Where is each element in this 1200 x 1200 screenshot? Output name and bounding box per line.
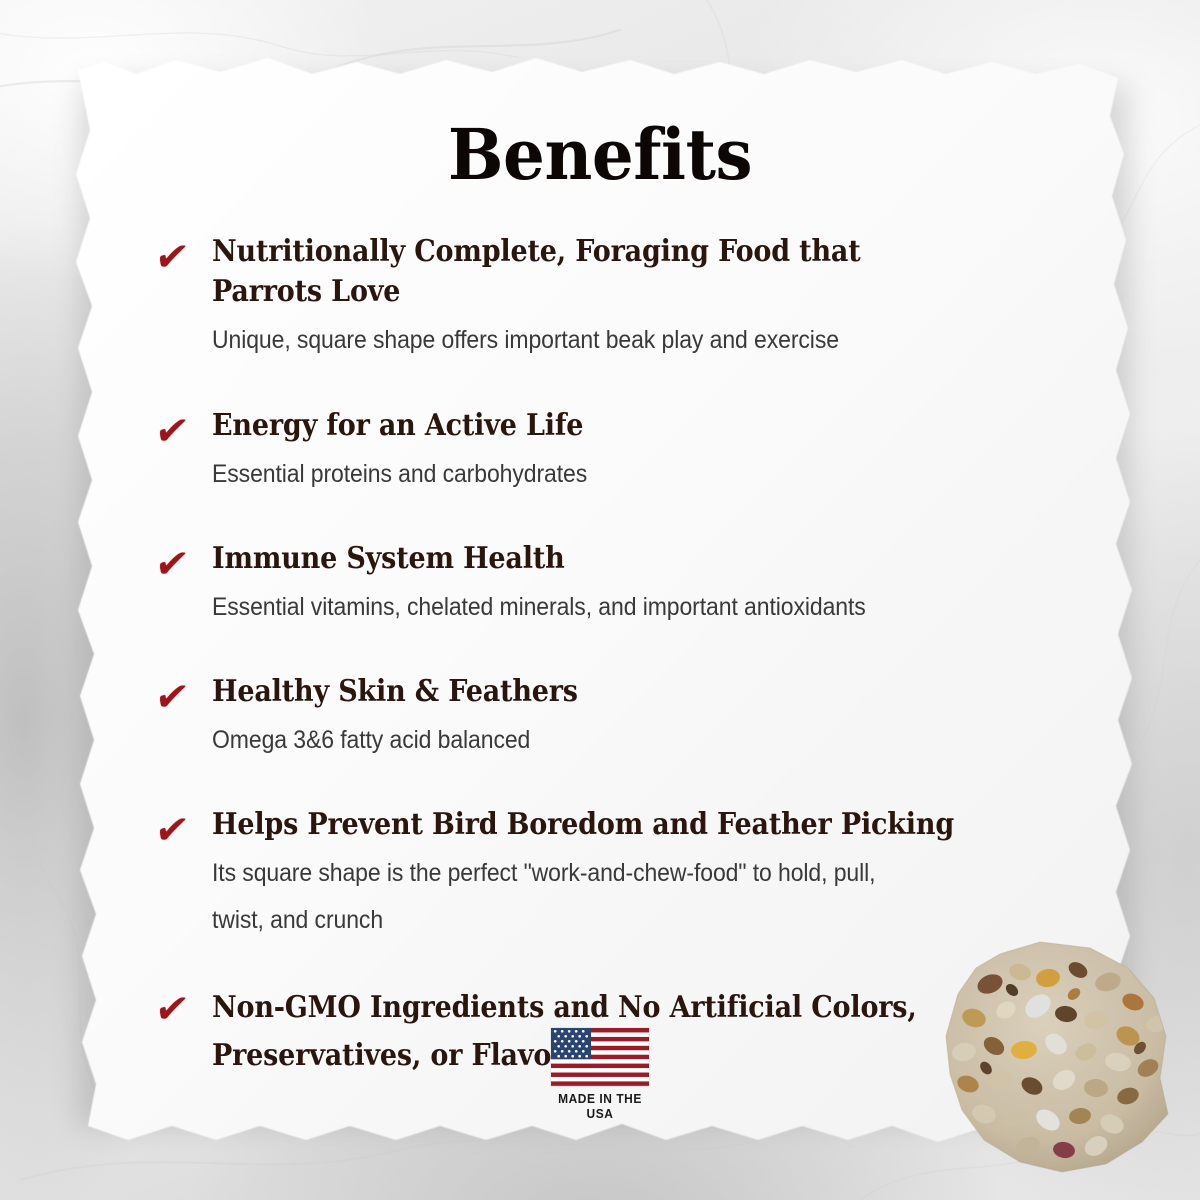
benefits-list: ✔ Nutritionally Complete, Foraging Food … bbox=[156, 232, 1056, 1085]
made-in-usa-badge: MADE IN THE USA bbox=[551, 1028, 649, 1121]
poster-content: Benefits ✔ Nutritionally Complete, Forag… bbox=[0, 0, 1200, 1200]
product-image bbox=[928, 928, 1190, 1190]
list-item: ✔ Energy for an Active Life Essential pr… bbox=[156, 406, 1056, 498]
list-item: ✔ Helps Prevent Bird Boredom and Feather… bbox=[156, 805, 1056, 944]
check-mark-icon: ✔ bbox=[152, 678, 199, 719]
check-mark-icon: ✔ bbox=[152, 545, 199, 586]
list-item: ✔ Healthy Skin & Feathers Omega 3&6 fatt… bbox=[156, 672, 1056, 764]
poster-canvas: Benefits ✔ Nutritionally Complete, Forag… bbox=[0, 0, 1200, 1200]
list-item: ✔ Immune System Health Essential vitamin… bbox=[156, 539, 1056, 631]
benefit-heading: Nutritionally Complete, Foraging Food th… bbox=[212, 232, 972, 312]
made-in-usa-label: MADE IN THE USA bbox=[555, 1091, 645, 1121]
benefit-description: Essential vitamins, chelated minerals, a… bbox=[212, 584, 988, 631]
list-item: ✔ Nutritionally Complete, Foraging Food … bbox=[156, 232, 1056, 364]
benefit-heading: Energy for an Active Life bbox=[212, 406, 972, 446]
check-mark-icon: ✔ bbox=[152, 811, 199, 852]
benefit-heading: Healthy Skin & Feathers bbox=[212, 672, 972, 712]
page-title: Benefits bbox=[36, 113, 1164, 196]
benefit-description: Omega 3&6 fatty acid balanced bbox=[212, 717, 988, 764]
benefit-description: Essential proteins and carbohydrates bbox=[212, 451, 988, 498]
benefit-description: Unique, square shape offers important be… bbox=[212, 317, 988, 364]
check-mark-icon: ✔ bbox=[152, 238, 199, 279]
usa-flag-icon bbox=[551, 1028, 649, 1086]
benefit-heading: Immune System Health bbox=[212, 539, 972, 579]
benefit-heading: Helps Prevent Bird Boredom and Feather P… bbox=[212, 805, 972, 845]
check-mark-icon: ✔ bbox=[152, 990, 199, 1031]
check-mark-icon: ✔ bbox=[152, 412, 199, 453]
benefit-description: Its square shape is the perfect "work-an… bbox=[212, 850, 988, 944]
